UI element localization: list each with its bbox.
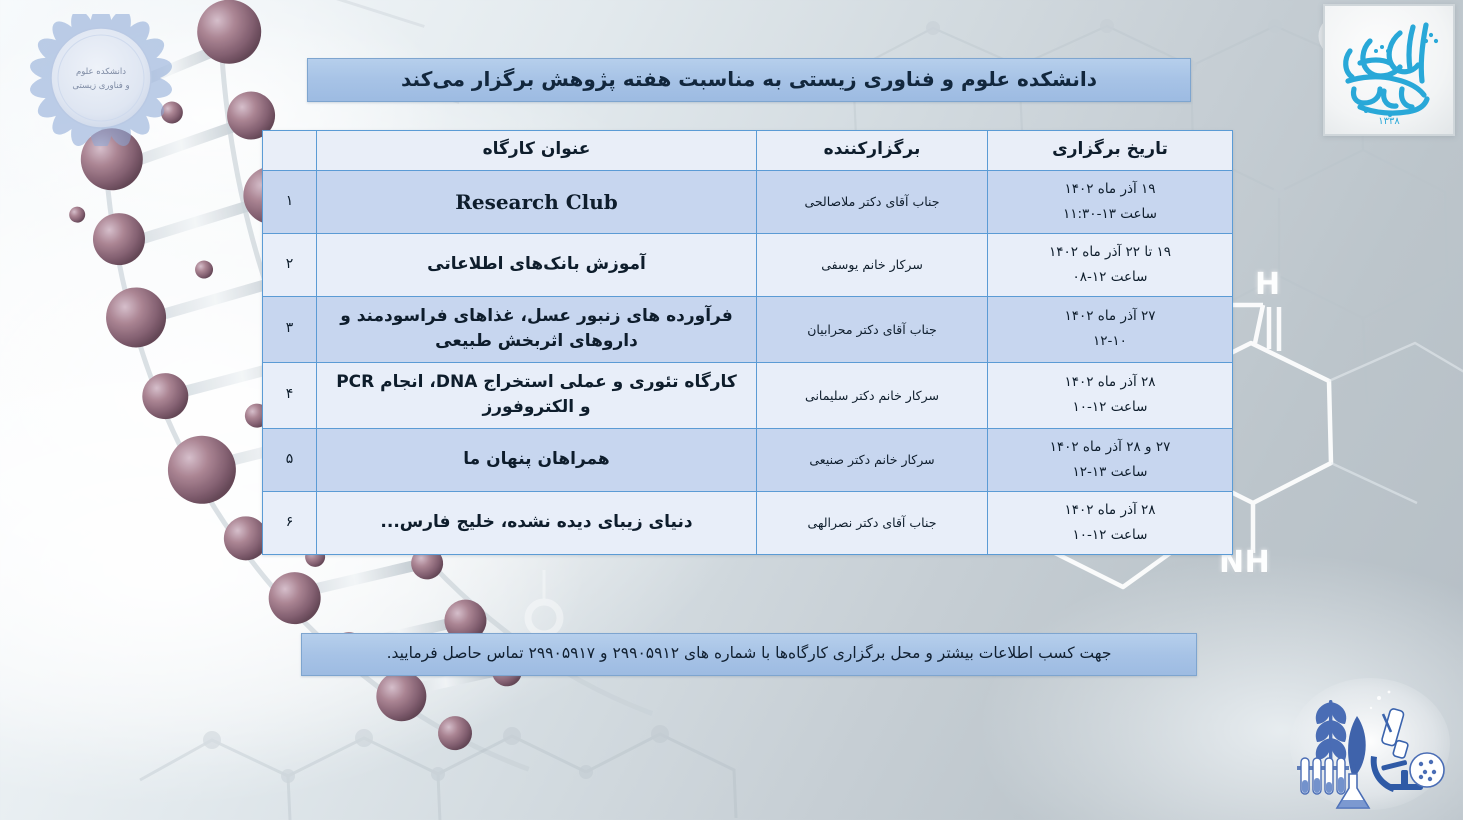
cell-date: ۲۸ آذر ماه ۱۴۰۲ ساعت ۱۲-۱۰ [988, 491, 1233, 554]
cell-date: ۲۷ و ۲۸ آذر ماه ۱۴۰۲ ساعت ۱۳-۱۲ [988, 428, 1233, 491]
cell-workshop-title: کارگاه تئوری و عملی استخراج DNA، انجام P… [317, 362, 757, 428]
cell-organizer: سرکار خانم دکتر سلیمانی [757, 362, 988, 428]
molecule-chain-icon [120, 570, 820, 820]
cell-row-number: ۶ [263, 491, 317, 554]
faculty-logo-text: دانشکده علوم و فناوری زیستی [20, 14, 182, 146]
cell-organizer: جناب آقای دکتر ملاصالحی [757, 171, 988, 234]
university-logo: ۱۳۳۸ [1323, 4, 1455, 136]
table-row: ۱۹ آذر ماه ۱۴۰۲ ساعت ۱۳-۱۱:۳۰جناب آقای د… [263, 171, 1233, 234]
workshop-schedule-table: تاریخ برگزاری برگزارکننده عنوان کارگاه ۱… [262, 130, 1233, 555]
table-row: ۲۸ آذر ماه ۱۴۰۲ ساعت ۱۲-۱۰جناب آقای دکتر… [263, 491, 1233, 554]
cell-workshop-title: فرآورده های زنبور عسل، غذاهای فراسودمند … [317, 296, 757, 362]
cell-workshop-title: Research Club [317, 171, 757, 234]
cell-organizer: جناب آقای دکتر محرابیان [757, 296, 988, 362]
column-header-date: تاریخ برگزاری [988, 131, 1233, 171]
cell-row-number: ۵ [263, 428, 317, 491]
table-header-row: تاریخ برگزاری برگزارکننده عنوان کارگاه [263, 131, 1233, 171]
cell-workshop-title: دنیای زیبای دیده نشده، خلیج فارس... [317, 491, 757, 554]
university-logo-calligraphy: ۱۳۳۸ [1330, 11, 1448, 129]
chem-label-h: H [1255, 267, 1281, 302]
column-header-number [263, 131, 317, 171]
cell-row-number: ۲ [263, 233, 317, 296]
cell-date: ۲۷ آذر ماه ۱۴۰۲ ۱۲-۱۰ [988, 296, 1233, 362]
table-row: ۱۹ تا ۲۲ آذر ماه ۱۴۰۲ ساعت ۱۲-۰۸سرکار خا… [263, 233, 1233, 296]
contact-info-banner: جهت کسب اطلاعات بیشتر و محل برگزاری کارگ… [301, 633, 1197, 676]
cell-row-number: ۴ [263, 362, 317, 428]
cell-organizer: جناب آقای دکتر نصرالهی [757, 491, 988, 554]
cell-row-number: ۱ [263, 171, 317, 234]
cell-row-number: ۳ [263, 296, 317, 362]
headline-banner: دانشکده علوم و فناوری زیستی به مناسبت هف… [307, 58, 1191, 102]
cell-organizer: سرکار خانم دکتر صنیعی [757, 428, 988, 491]
cell-date: ۲۸ آذر ماه ۱۴۰۲ ساعت ۱۲-۱۰ [988, 362, 1233, 428]
cell-workshop-title: همراهان پنهان ما [317, 428, 757, 491]
cell-date: ۱۹ آذر ماه ۱۴۰۲ ساعت ۱۳-۱۱:۳۰ [988, 171, 1233, 234]
biology-lab-illustration [1285, 674, 1455, 814]
cell-date: ۱۹ تا ۲۲ آذر ماه ۱۴۰۲ ساعت ۱۲-۰۸ [988, 233, 1233, 296]
column-header-organizer: برگزارکننده [757, 131, 988, 171]
cell-colony-icon [1410, 753, 1444, 787]
table-row: ۲۸ آذر ماه ۱۴۰۲ ساعت ۱۲-۱۰سرکار خانم دکت… [263, 362, 1233, 428]
faculty-logo: دانشکده علوم و فناوری زیستی [20, 14, 182, 146]
faculty-logo-line2: و فناوری زیستی [72, 79, 129, 93]
cell-workshop-title: آموزش بانک‌های اطلاعاتی [317, 233, 757, 296]
faculty-logo-line1: دانشکده علوم [76, 65, 126, 79]
column-header-title: عنوان کارگاه [317, 131, 757, 171]
table-row: ۲۷ و ۲۸ آذر ماه ۱۴۰۲ ساعت ۱۳-۱۲سرکار خان… [263, 428, 1233, 491]
table-body: ۱۹ آذر ماه ۱۴۰۲ ساعت ۱۳-۱۱:۳۰جناب آقای د… [263, 171, 1233, 555]
table-row: ۲۷ آذر ماه ۱۴۰۲ ۱۲-۱۰جناب آقای دکتر محرا… [263, 296, 1233, 362]
university-logo-year: ۱۳۳۸ [1378, 116, 1400, 127]
cell-organizer: سرکار خانم یوسفی [757, 233, 988, 296]
